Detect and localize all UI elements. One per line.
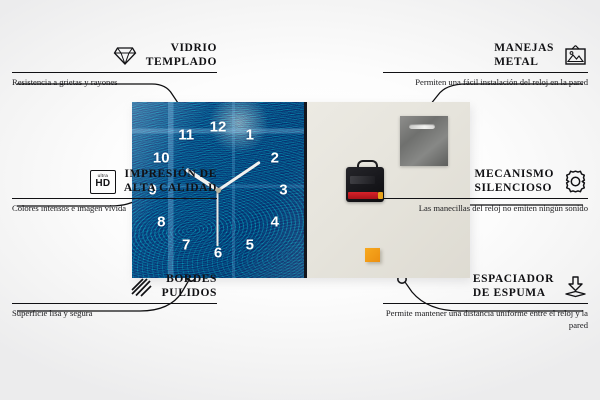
- callout-head: ESPACIADOR DE ESPUMA: [383, 273, 588, 300]
- title-line-2: TEMPLADO: [146, 56, 217, 68]
- callout-description: Permiten una fácil instalación del reloj…: [383, 77, 588, 89]
- callout-head: BORDES PULIDOS: [12, 273, 217, 300]
- callout-title: BORDES PULIDOS: [162, 273, 217, 300]
- callout-description: Superficie lisa y segura: [12, 308, 217, 320]
- clock-number-10: 10: [153, 151, 170, 166]
- callout-head: VIDRIO TEMPLADO: [12, 42, 217, 69]
- clock-number-2: 2: [271, 151, 279, 166]
- mechanism-battery: [348, 192, 378, 199]
- callout-divider: [383, 198, 588, 199]
- clock-number-1: 1: [246, 127, 254, 142]
- title-line-1: MECANISMO: [474, 168, 554, 180]
- callout-divider: [12, 303, 217, 304]
- metal-hanger-plate: [400, 116, 448, 166]
- ultra-hd-badge-icon: ultra HD: [90, 169, 116, 195]
- wall-hanger-icon: [562, 43, 588, 69]
- clock-number-8: 8: [157, 214, 165, 229]
- clock-number-4: 4: [271, 214, 279, 229]
- foam-spacer-icon: [562, 274, 588, 300]
- callout-impresion-alta-calidad: ultra HD IMPRESIÓN DE ALTA CALIDAD Color…: [12, 168, 217, 215]
- callout-title: MANEJAS METAL: [494, 42, 554, 69]
- title-line-2: PULIDOS: [162, 287, 217, 299]
- callout-description: Las manecillas del reloj no emiten ningú…: [383, 203, 588, 215]
- callout-divider: [383, 303, 588, 304]
- title-line-1: ESPACIADOR: [473, 273, 554, 285]
- callout-divider: [383, 72, 588, 73]
- title-line-1: MANEJAS: [494, 42, 554, 54]
- title-line-1: VIDRIO: [171, 42, 217, 54]
- infographic-canvas: 12 1 2 3 4 5 6 7 8 9 10 11: [0, 0, 600, 400]
- diamond-icon: [112, 43, 138, 69]
- callout-divider: [12, 198, 217, 199]
- title-line-2: ALTA CALIDAD: [124, 182, 217, 194]
- title-line-1: IMPRESIÓN DE: [124, 168, 217, 180]
- clock-number-5: 5: [246, 238, 254, 253]
- callout-head: ultra HD IMPRESIÓN DE ALTA CALIDAD: [12, 168, 217, 195]
- polished-edges-icon: [128, 274, 154, 300]
- mechanism-label: [350, 176, 375, 184]
- title-line-2: DE ESPUMA: [473, 287, 546, 299]
- title-line-2: SILENCIOSO: [474, 182, 552, 194]
- title-line-2: METAL: [494, 56, 538, 68]
- hd-badge-large-text: HD: [95, 179, 110, 189]
- callout-bordes-pulidos: BORDES PULIDOS Superficie lisa y segura: [12, 273, 217, 320]
- clock-number-7: 7: [182, 238, 190, 253]
- callout-description: Colores intensos e imagen vívida: [12, 203, 217, 215]
- callout-mecanismo-silencioso: MECANISMO SILENCIOSO Las manecillas del …: [383, 168, 588, 215]
- callout-vidrio-templado: VIDRIO TEMPLADO Resistencia a grietas y …: [12, 42, 217, 89]
- hanger-slot: [409, 124, 435, 129]
- clock-number-3: 3: [279, 183, 287, 198]
- foam-spacer: [365, 248, 380, 262]
- callout-espaciador-de-espuma: ESPACIADOR DE ESPUMA Permite mantener un…: [383, 273, 588, 331]
- callout-title: MECANISMO SILENCIOSO: [474, 168, 554, 195]
- callout-description: Permite mantener una distancia uniforme …: [383, 308, 588, 331]
- callout-title: IMPRESIÓN DE ALTA CALIDAD: [124, 168, 217, 195]
- clock-mechanism: [346, 164, 384, 202]
- callout-manejas-metal: MANEJAS METAL Permiten una fácil instala…: [383, 42, 588, 89]
- callout-title: VIDRIO TEMPLADO: [146, 42, 217, 69]
- callout-divider: [12, 72, 217, 73]
- clock-number-12: 12: [210, 119, 227, 134]
- mechanism-body: [346, 167, 384, 202]
- clock-number-6: 6: [214, 246, 222, 261]
- callout-title: ESPACIADOR DE ESPUMA: [473, 273, 554, 300]
- hd-badge: ultra HD: [90, 170, 116, 194]
- gear-icon: [562, 169, 588, 195]
- callout-head: MANEJAS METAL: [383, 42, 588, 69]
- callout-description: Resistencia a grietas y rayones: [12, 77, 217, 89]
- title-line-1: BORDES: [166, 273, 217, 285]
- callout-head: MECANISMO SILENCIOSO: [383, 168, 588, 195]
- clock-number-11: 11: [178, 127, 194, 142]
